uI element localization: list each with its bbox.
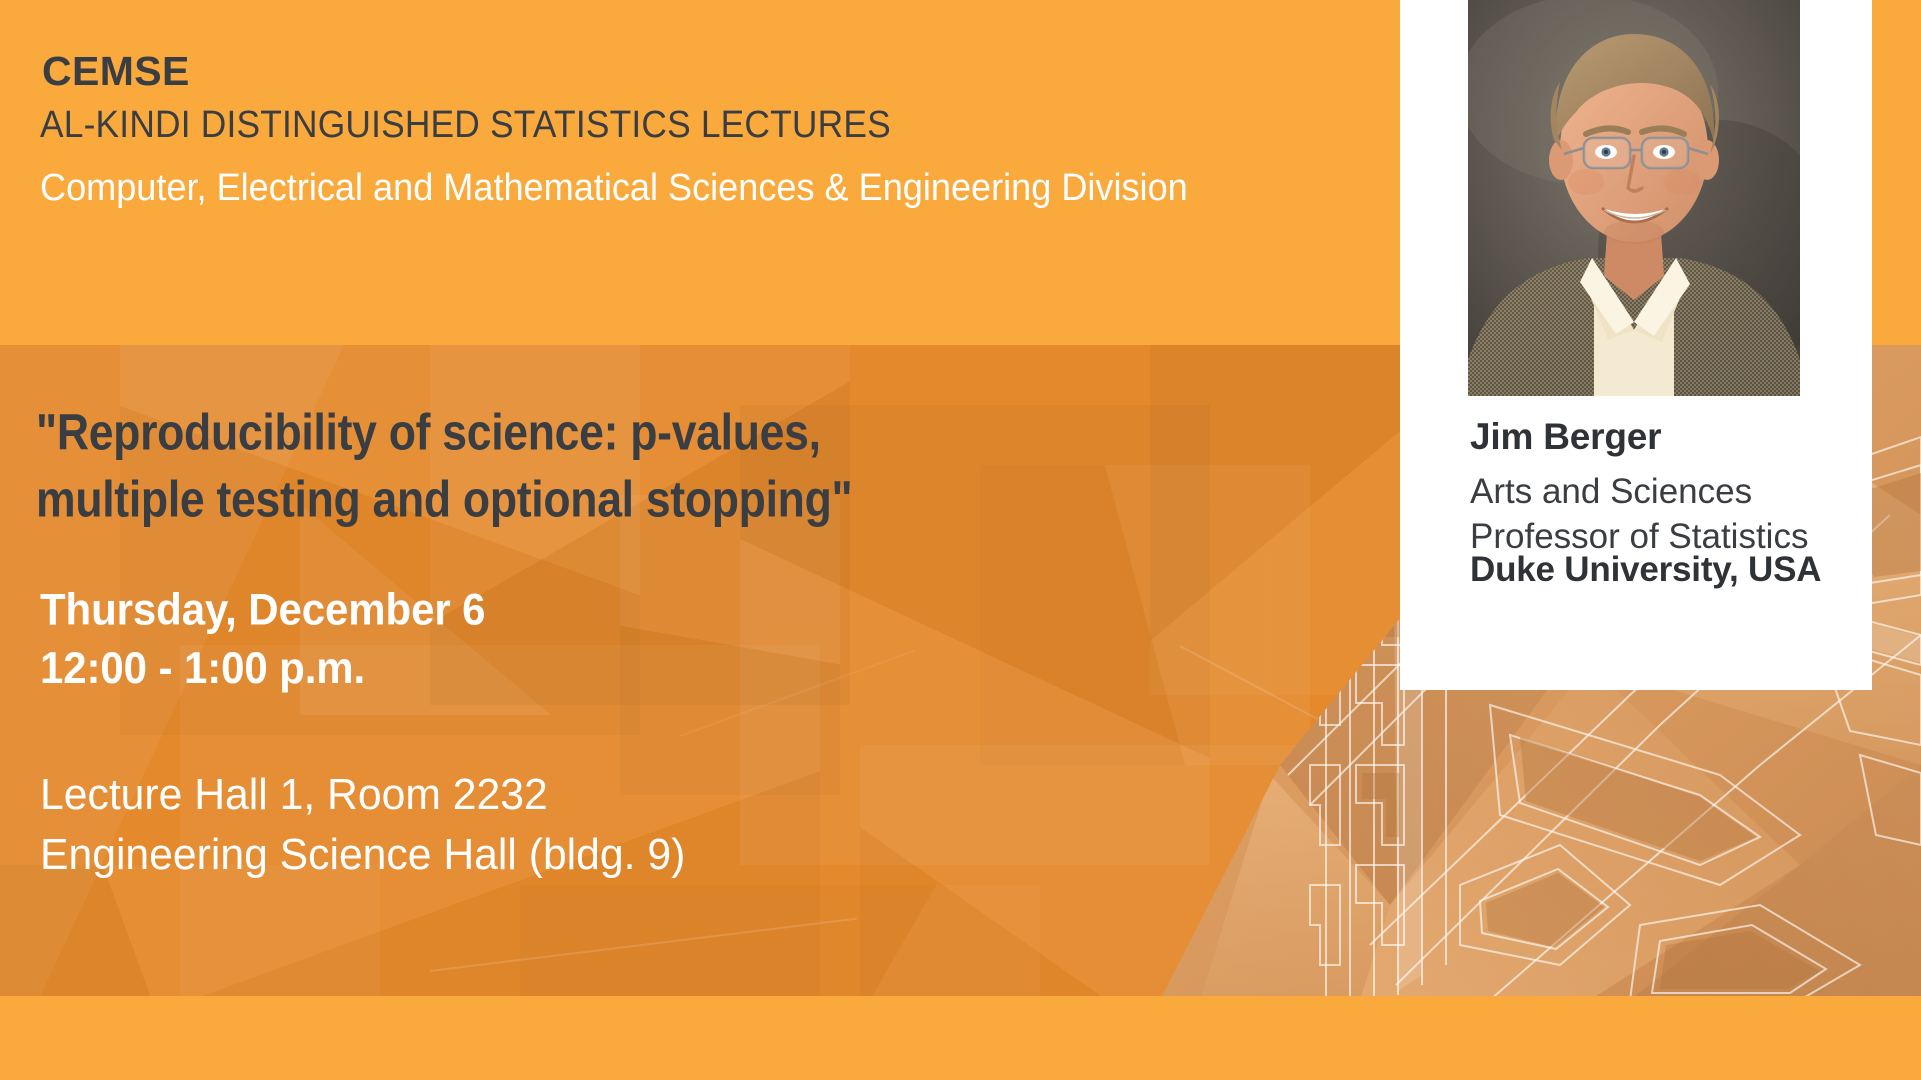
speaker-name: Jim Berger <box>1470 416 1661 458</box>
background-facet <box>520 885 1040 996</box>
speaker-title: Arts and Sciences Professor of Statistic… <box>1470 470 1860 560</box>
speaker-portrait-photo <box>1468 0 1800 396</box>
org-acronym: CEMSE <box>42 48 190 95</box>
background-facet <box>620 495 840 795</box>
speaker-affiliation: Duke University, USA <box>1470 550 1821 590</box>
lecture-series-name: AL-KINDI DISTINGUISHED STATISTICS LECTUR… <box>40 104 891 147</box>
speaker-card: Jim Berger Arts and Sciences Professor o… <box>1400 0 1872 690</box>
bottom-color-band <box>0 996 1921 1080</box>
talk-venue: Lecture Hall 1, Room 2232 Engineering Sc… <box>40 765 685 886</box>
lecture-announcement-poster: CEMSE AL-KINDI DISTINGUISHED STATISTICS … <box>0 0 1921 1080</box>
talk-title: "Reproducibility of science: p-values, m… <box>36 398 852 533</box>
talk-date-time: Thursday, December 6 12:00 - 1:00 p.m. <box>40 580 485 698</box>
division-name: Computer, Electrical and Mathematical Sc… <box>40 162 1188 214</box>
